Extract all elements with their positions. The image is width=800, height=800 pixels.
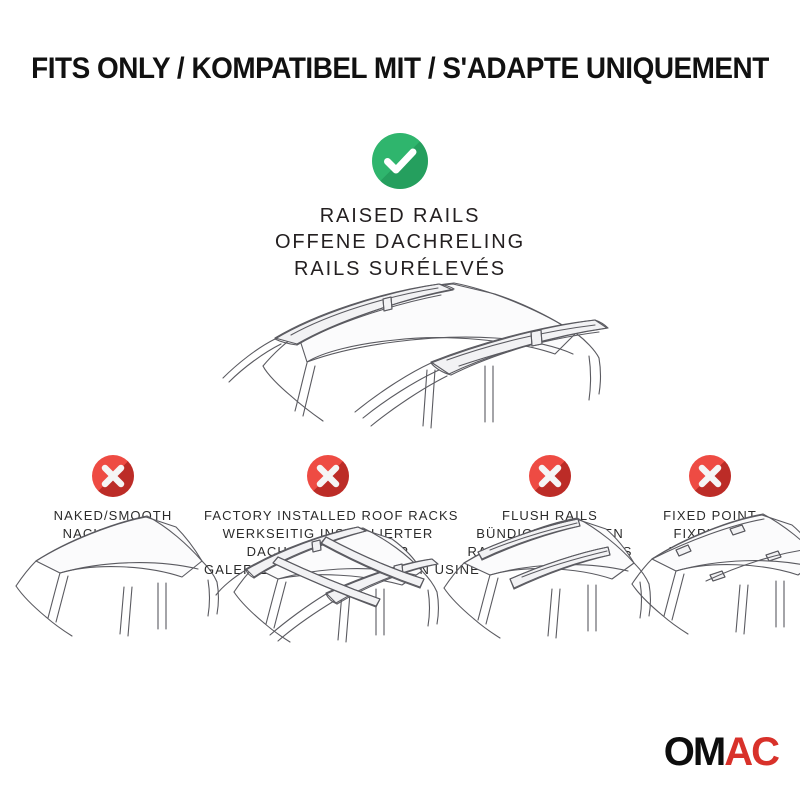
cross-icon [307,455,349,497]
infographic-page: FITS ONLY / KOMPATIBEL MIT / S'ADAPTE UN… [0,0,800,800]
compatible-section: RAISED RAILS OFFENE DACHRELING RAILS SUR… [0,133,800,282]
incompatible-item-naked-smooth: NAKED/SMOOTH NACKT/GLATT TOIT/LISSE [8,455,218,561]
raised-rails-illustration [195,278,625,458]
page-title: FITS ONLY / KOMPATIBEL MIT / S'ADAPTE UN… [28,52,772,86]
omac-logo: OMAC [664,732,778,772]
incompatible-item-fixed-point: FIXED POINT FIXPUNKT POINT FIXE [630,455,790,561]
cross-icon [529,455,571,497]
factory-roof-rack-illustration [216,521,441,656]
cross-icon [689,455,731,497]
fixed-point-illustration [618,503,800,653]
check-icon [372,133,428,189]
compatible-label-line-en: RAISED RAILS [0,203,800,229]
omac-logo-red-part: AC [724,730,778,774]
omac-logo-dark-part: OM [664,730,724,774]
flush-rails-illustration [420,503,650,653]
naked-smooth-illustration [6,503,221,653]
incompatible-item-factory-roof-racks: FACTORY INSTALLED ROOF RACKS WERKSEITIG … [204,455,452,579]
cross-icon [92,455,134,497]
compatible-label-line-de: OFFENE DACHRELING [0,229,800,255]
compatible-label: RAISED RAILS OFFENE DACHRELING RAILS SUR… [0,203,800,282]
